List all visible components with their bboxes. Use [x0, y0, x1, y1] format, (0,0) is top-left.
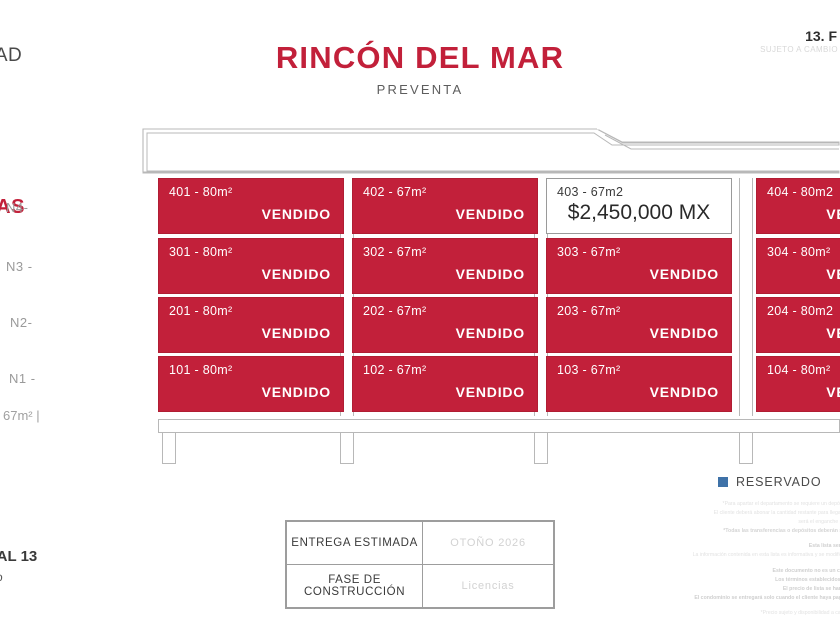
fineprint-line: *Para apartar el departamento se requier… [518, 500, 840, 509]
unit-status: VENDIDO [159, 266, 331, 282]
unit-card[interactable]: 303 - 67m² VENDIDO [546, 238, 732, 294]
row-label: FASE DE CONSTRUCCIÓN [287, 565, 423, 608]
unit-id: 102 - 67m² [363, 363, 426, 377]
fineprint-line: El cliente deberá abonar la cantidad res… [518, 509, 840, 518]
unit-card[interactable]: 204 - 80m2 VENDI [756, 297, 840, 353]
unit-id: 304 - 80m² [767, 245, 830, 259]
table-row: ENTREGA ESTIMADA OTOÑO 2026 [287, 522, 554, 565]
fineprint-line: Este documento no es un cont [518, 567, 840, 576]
unit-id: 402 - 67m² [363, 185, 426, 199]
unit-id: 103 - 67m² [557, 363, 620, 377]
unit-status: VENDIDO [547, 325, 719, 341]
unit-id: 403 - 67m2 [557, 185, 623, 199]
unit-id: 104 - 80m² [767, 363, 830, 377]
unit-id: 303 - 67m² [557, 245, 620, 259]
unit-card[interactable]: 104 - 80m² VENDI [756, 356, 840, 412]
unit-status: VENDIDO [547, 266, 719, 282]
unit-column-3: 403 - 67m2 $2,450,000 MX 303 - 67m² VEND… [546, 178, 732, 416]
fineprint-line: El precio de lista se hará e [518, 585, 840, 594]
level-label-n2: N2- [10, 315, 32, 330]
unit-column-1: 401 - 80m² VENDIDO 301 - 80m² VENDIDO 20… [158, 178, 344, 416]
legend-label: RESERVADO [736, 475, 821, 489]
unit-status: VENDIDO [159, 384, 331, 400]
level-label-n4: N4- [6, 200, 28, 215]
legend-reservado: RESERVADO [718, 475, 821, 489]
unit-id: 401 - 80m² [169, 185, 232, 199]
unit-card[interactable]: 404 - 80m2 VENDI [756, 178, 840, 234]
fineprint-line: será el enganche pac [518, 518, 840, 527]
unit-id: 101 - 80m² [169, 363, 232, 377]
unit-card[interactable]: 402 - 67m² VENDIDO [352, 178, 538, 234]
unit-card[interactable]: 101 - 80m² VENDIDO [158, 356, 344, 412]
level-label-n1: N1 - [9, 371, 36, 386]
column-separator [739, 178, 753, 416]
unit-status: VENDIDO [159, 325, 331, 341]
table-row: FASE DE CONSTRUCCIÓN Licencias [287, 565, 554, 608]
slide-canvas: ILIDAD RINCÓN DEL MAR PREVENTA 13. F SUJ… [0, 0, 840, 630]
fineprint-line: La información contenida en esta lista e… [518, 551, 840, 560]
base-slab [158, 419, 840, 433]
unit-card[interactable]: 304 - 80m² VENDI [756, 238, 840, 294]
unit-card[interactable]: 201 - 80m² VENDIDO [158, 297, 344, 353]
reserved-swatch-icon [718, 477, 728, 487]
unit-card[interactable]: 103 - 67m² VENDIDO [546, 356, 732, 412]
row-label: ENTREGA ESTIMADA [287, 522, 423, 565]
fineprint-block: *Para apartar el departamento se requier… [518, 500, 840, 618]
unit-column-2: 402 - 67m² VENDIDO 302 - 67m² VENDIDO 20… [352, 178, 538, 416]
fineprint-line: *Todas las transferencias o depósitos de… [518, 527, 840, 536]
unit-card[interactable]: 202 - 67m² VENDIDO [352, 297, 538, 353]
unit-status: VENDI [757, 266, 840, 282]
fineprint-line: El condominio se entregará solo cuando e… [518, 594, 840, 603]
unit-id: 204 - 80m2 [767, 304, 833, 318]
unit-status: VENDIDO [353, 206, 525, 222]
level-label-n3: N3 - [6, 259, 33, 274]
unit-column-4: 404 - 80m2 VENDI 304 - 80m² VENDI 204 - … [756, 178, 840, 416]
unit-id: 404 - 80m2 [767, 185, 833, 199]
unit-card[interactable]: 302 - 67m² VENDIDO [352, 238, 538, 294]
unit-status: VENDI [757, 325, 840, 341]
support-pillar [739, 433, 753, 464]
unit-card-available[interactable]: 403 - 67m2 $2,450,000 MX [546, 178, 732, 234]
fineprint-line: Los términos establecidos en [518, 576, 840, 585]
roof-shape [142, 126, 840, 174]
unit-card[interactable]: 203 - 67m² VENDIDO [546, 297, 732, 353]
unit-status: VENDI [757, 384, 840, 400]
unit-id: 201 - 80m² [169, 304, 232, 318]
unit-status: VENDIDO [547, 384, 719, 400]
fineprint-line: *Precio sujeto y disponibilidad a camb [518, 609, 840, 618]
unit-id: 202 - 67m² [363, 304, 426, 318]
unit-id: 301 - 80m² [169, 245, 232, 259]
unit-status: VENDI [757, 206, 840, 222]
unit-status: VENDIDO [353, 325, 525, 341]
unit-status: VENDIDO [159, 206, 331, 222]
support-pillar [534, 433, 548, 464]
unit-id: 203 - 67m² [557, 304, 620, 318]
unit-card[interactable]: 401 - 80m² VENDIDO [158, 178, 344, 234]
delivery-info-table: ENTREGA ESTIMADA OTOÑO 2026 FASE DE CONS… [285, 520, 555, 609]
support-pillar [162, 433, 176, 464]
unit-status: VENDIDO [353, 384, 525, 400]
unit-id: 302 - 67m² [363, 245, 426, 259]
support-pillar [340, 433, 354, 464]
unit-price: $2,450,000 MX [547, 201, 731, 225]
unit-status: VENDIDO [353, 266, 525, 282]
fineprint-line: Esta lista será s [518, 542, 840, 551]
unit-card[interactable]: 301 - 80m² VENDIDO [158, 238, 344, 294]
unit-card[interactable]: 102 - 67m² VENDIDO [352, 356, 538, 412]
